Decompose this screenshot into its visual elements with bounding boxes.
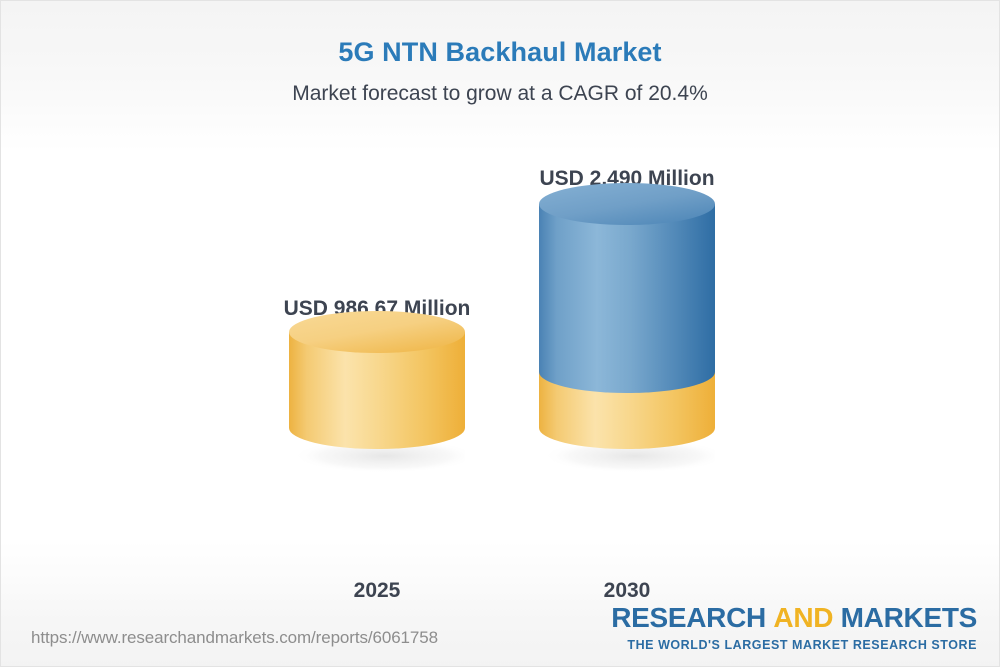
chart-header: 5G NTN Backhaul Market Market forecast t… [1, 1, 999, 106]
bar-group-2025: USD 986.67 Million [289, 181, 465, 581]
bar-group-2030: USD 2,490 Million [539, 181, 715, 581]
logo-word-research: RESEARCH [611, 602, 766, 633]
research-and-markets-logo[interactable]: RESEARCH AND MARKETS THE WORLD'S LARGEST… [611, 604, 977, 652]
chart-plot-area: USD 986.67 Million [1, 141, 999, 581]
footer: https://www.researchandmarkets.com/repor… [1, 580, 999, 666]
cylinder-2030 [539, 183, 715, 543]
source-url-link[interactable]: https://www.researchandmarkets.com/repor… [31, 628, 438, 648]
page-title: 5G NTN Backhaul Market [1, 37, 999, 68]
cylinder-2025 [289, 311, 465, 543]
logo-word-markets: MARKETS [841, 602, 977, 633]
logo-word-and: AND [773, 602, 833, 633]
chart-subtitle: Market forecast to grow at a CAGR of 20.… [1, 82, 999, 106]
logo-tagline: THE WORLD'S LARGEST MARKET RESEARCH STOR… [611, 638, 977, 652]
logo-wordmark: RESEARCH AND MARKETS [611, 604, 977, 632]
market-infographic: 5G NTN Backhaul Market Market forecast t… [0, 0, 1000, 667]
